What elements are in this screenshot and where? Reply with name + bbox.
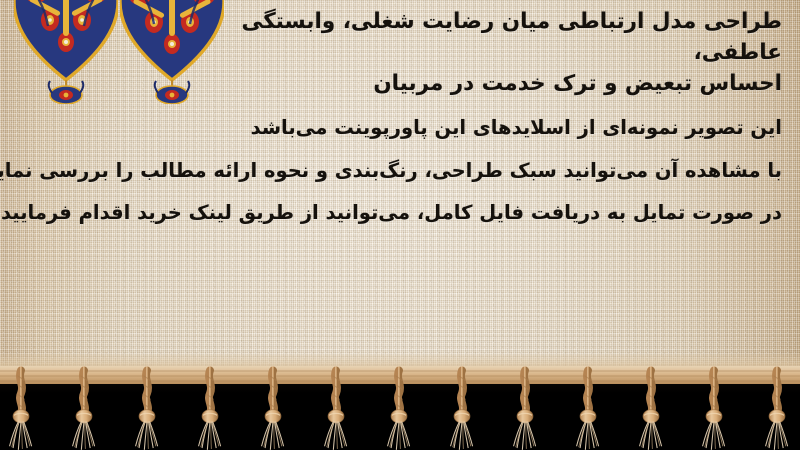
slide-canvas: طراحی مدل ارتباطی میان رضایت شغلی، وابست… xyxy=(0,0,800,450)
fringe-tassel xyxy=(258,366,288,450)
fringe-tassel xyxy=(69,366,99,450)
fringe-tassel xyxy=(636,366,666,450)
slide-title-line-1: طراحی مدل ارتباطی میان رضایت شغلی، وابست… xyxy=(220,6,782,68)
fringe-tassel xyxy=(447,366,477,450)
slide-body-line-1: این تصویر نمونه‌ای از اسلایدهای این پاور… xyxy=(18,115,782,141)
carpet-fringe xyxy=(0,352,800,450)
fringe-tassel xyxy=(699,366,729,450)
fringe-tassel xyxy=(510,366,540,450)
slide-body-line-3: در صورت تمایل به دریافت فایل کامل، می‌تو… xyxy=(18,200,782,226)
fringe-tassel xyxy=(573,366,603,450)
fringe-tassel xyxy=(195,366,225,450)
fringe-tassel xyxy=(321,366,351,450)
fringe-tassel xyxy=(384,366,414,450)
fringe-tassel xyxy=(132,366,162,450)
slide-title: طراحی مدل ارتباطی میان رضایت شغلی، وابست… xyxy=(220,6,782,99)
slide-title-line-2: احساس تبعیض و ترک خدمت در مربیان xyxy=(220,68,782,99)
fringe-tassel xyxy=(762,366,792,450)
slide-body-line-2: با مشاهده آن می‌توانید سبک طراحی، رنگ‌بن… xyxy=(18,158,782,184)
fringe-tassel xyxy=(6,366,36,450)
